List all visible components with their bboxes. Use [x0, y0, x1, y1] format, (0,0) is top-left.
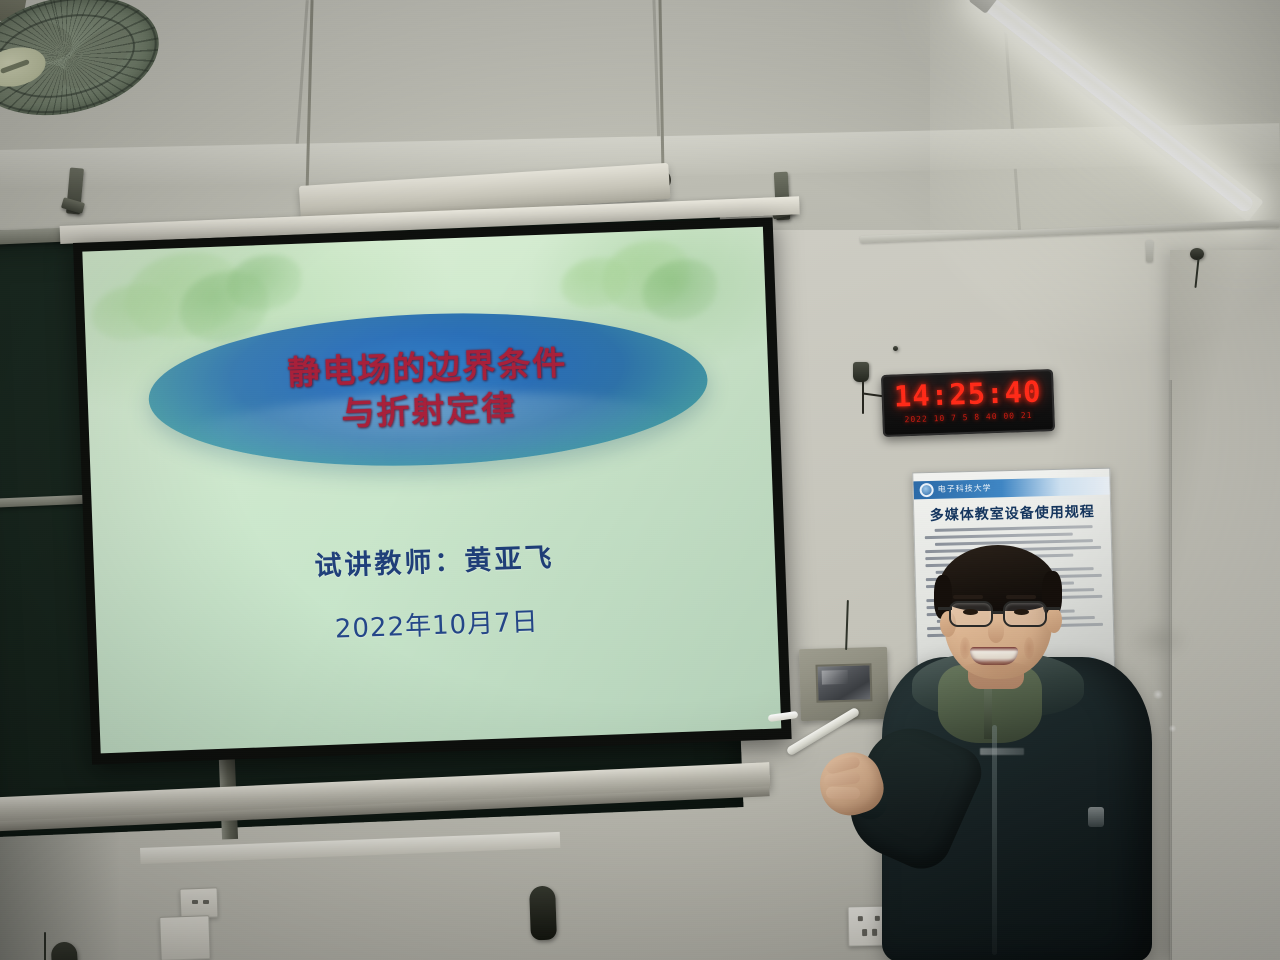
eyeglasses-temple: [938, 607, 952, 610]
poster-title: 多媒体教室设备使用规程: [914, 501, 1110, 526]
chin-shadow: [960, 661, 1032, 681]
eye: [1014, 609, 1029, 615]
presentation-slide: 静电场的边界条件 与折射定律 试讲教师：黄亚飞 2022年10月7日: [82, 227, 781, 754]
jacket-zipper: [992, 725, 997, 955]
wall-conduit: [1146, 240, 1153, 262]
poster-text-line: [935, 525, 1093, 532]
wall-conduit-box: [159, 915, 211, 960]
eyeglasses-bridge: [991, 611, 1003, 614]
ceiling-dot: [893, 346, 898, 351]
smile-line: [960, 637, 970, 659]
jacket-brand-logo: [980, 748, 1024, 755]
ear: [1046, 607, 1062, 633]
smile-line: [1024, 637, 1034, 659]
finger: [826, 786, 860, 799]
slide-presenter-line: 试讲教师：黄亚飞: [93, 528, 775, 592]
wall-junction-box: [179, 887, 218, 918]
junction-box-hole: [192, 900, 198, 904]
jacket-sleeve-logo: [1088, 807, 1104, 827]
junction-box-hole: [203, 900, 209, 904]
nose: [988, 621, 1004, 643]
projection-screen: 静电场的边界条件 与折射定律 试讲教师：黄亚飞 2022年10月7日: [73, 217, 792, 764]
eyeglasses-temple: [1046, 607, 1060, 610]
digital-clock: 14:25:40 2022 10 7 5 8 40 00 21: [881, 369, 1055, 437]
floral-decoration: [226, 254, 303, 312]
eyebrow: [1006, 595, 1036, 599]
tray-hook-wire: [44, 932, 46, 960]
tray-hook: [529, 886, 557, 941]
wall-anchor: [853, 362, 869, 382]
clock-time-display: 14:25:40: [881, 374, 1054, 414]
slide-title-line-2: 与折射定律: [341, 386, 517, 435]
lecturer: [820, 545, 1190, 960]
poster-text-line: [925, 533, 1073, 540]
eyebrow: [953, 595, 983, 599]
ceiling-fan: [0, 0, 180, 125]
eye: [963, 609, 978, 615]
clock-power-cable: [862, 380, 864, 414]
classroom-photo: 14:25:40 2022 10 7 5 8 40 00 21 电子科技大学 多…: [0, 0, 1280, 960]
slide-title-line-1: 静电场的边界条件: [287, 342, 568, 394]
poster-logo-text: 电子科技大学: [938, 483, 992, 495]
slide-date-line: 2022年10月7日: [96, 593, 778, 655]
